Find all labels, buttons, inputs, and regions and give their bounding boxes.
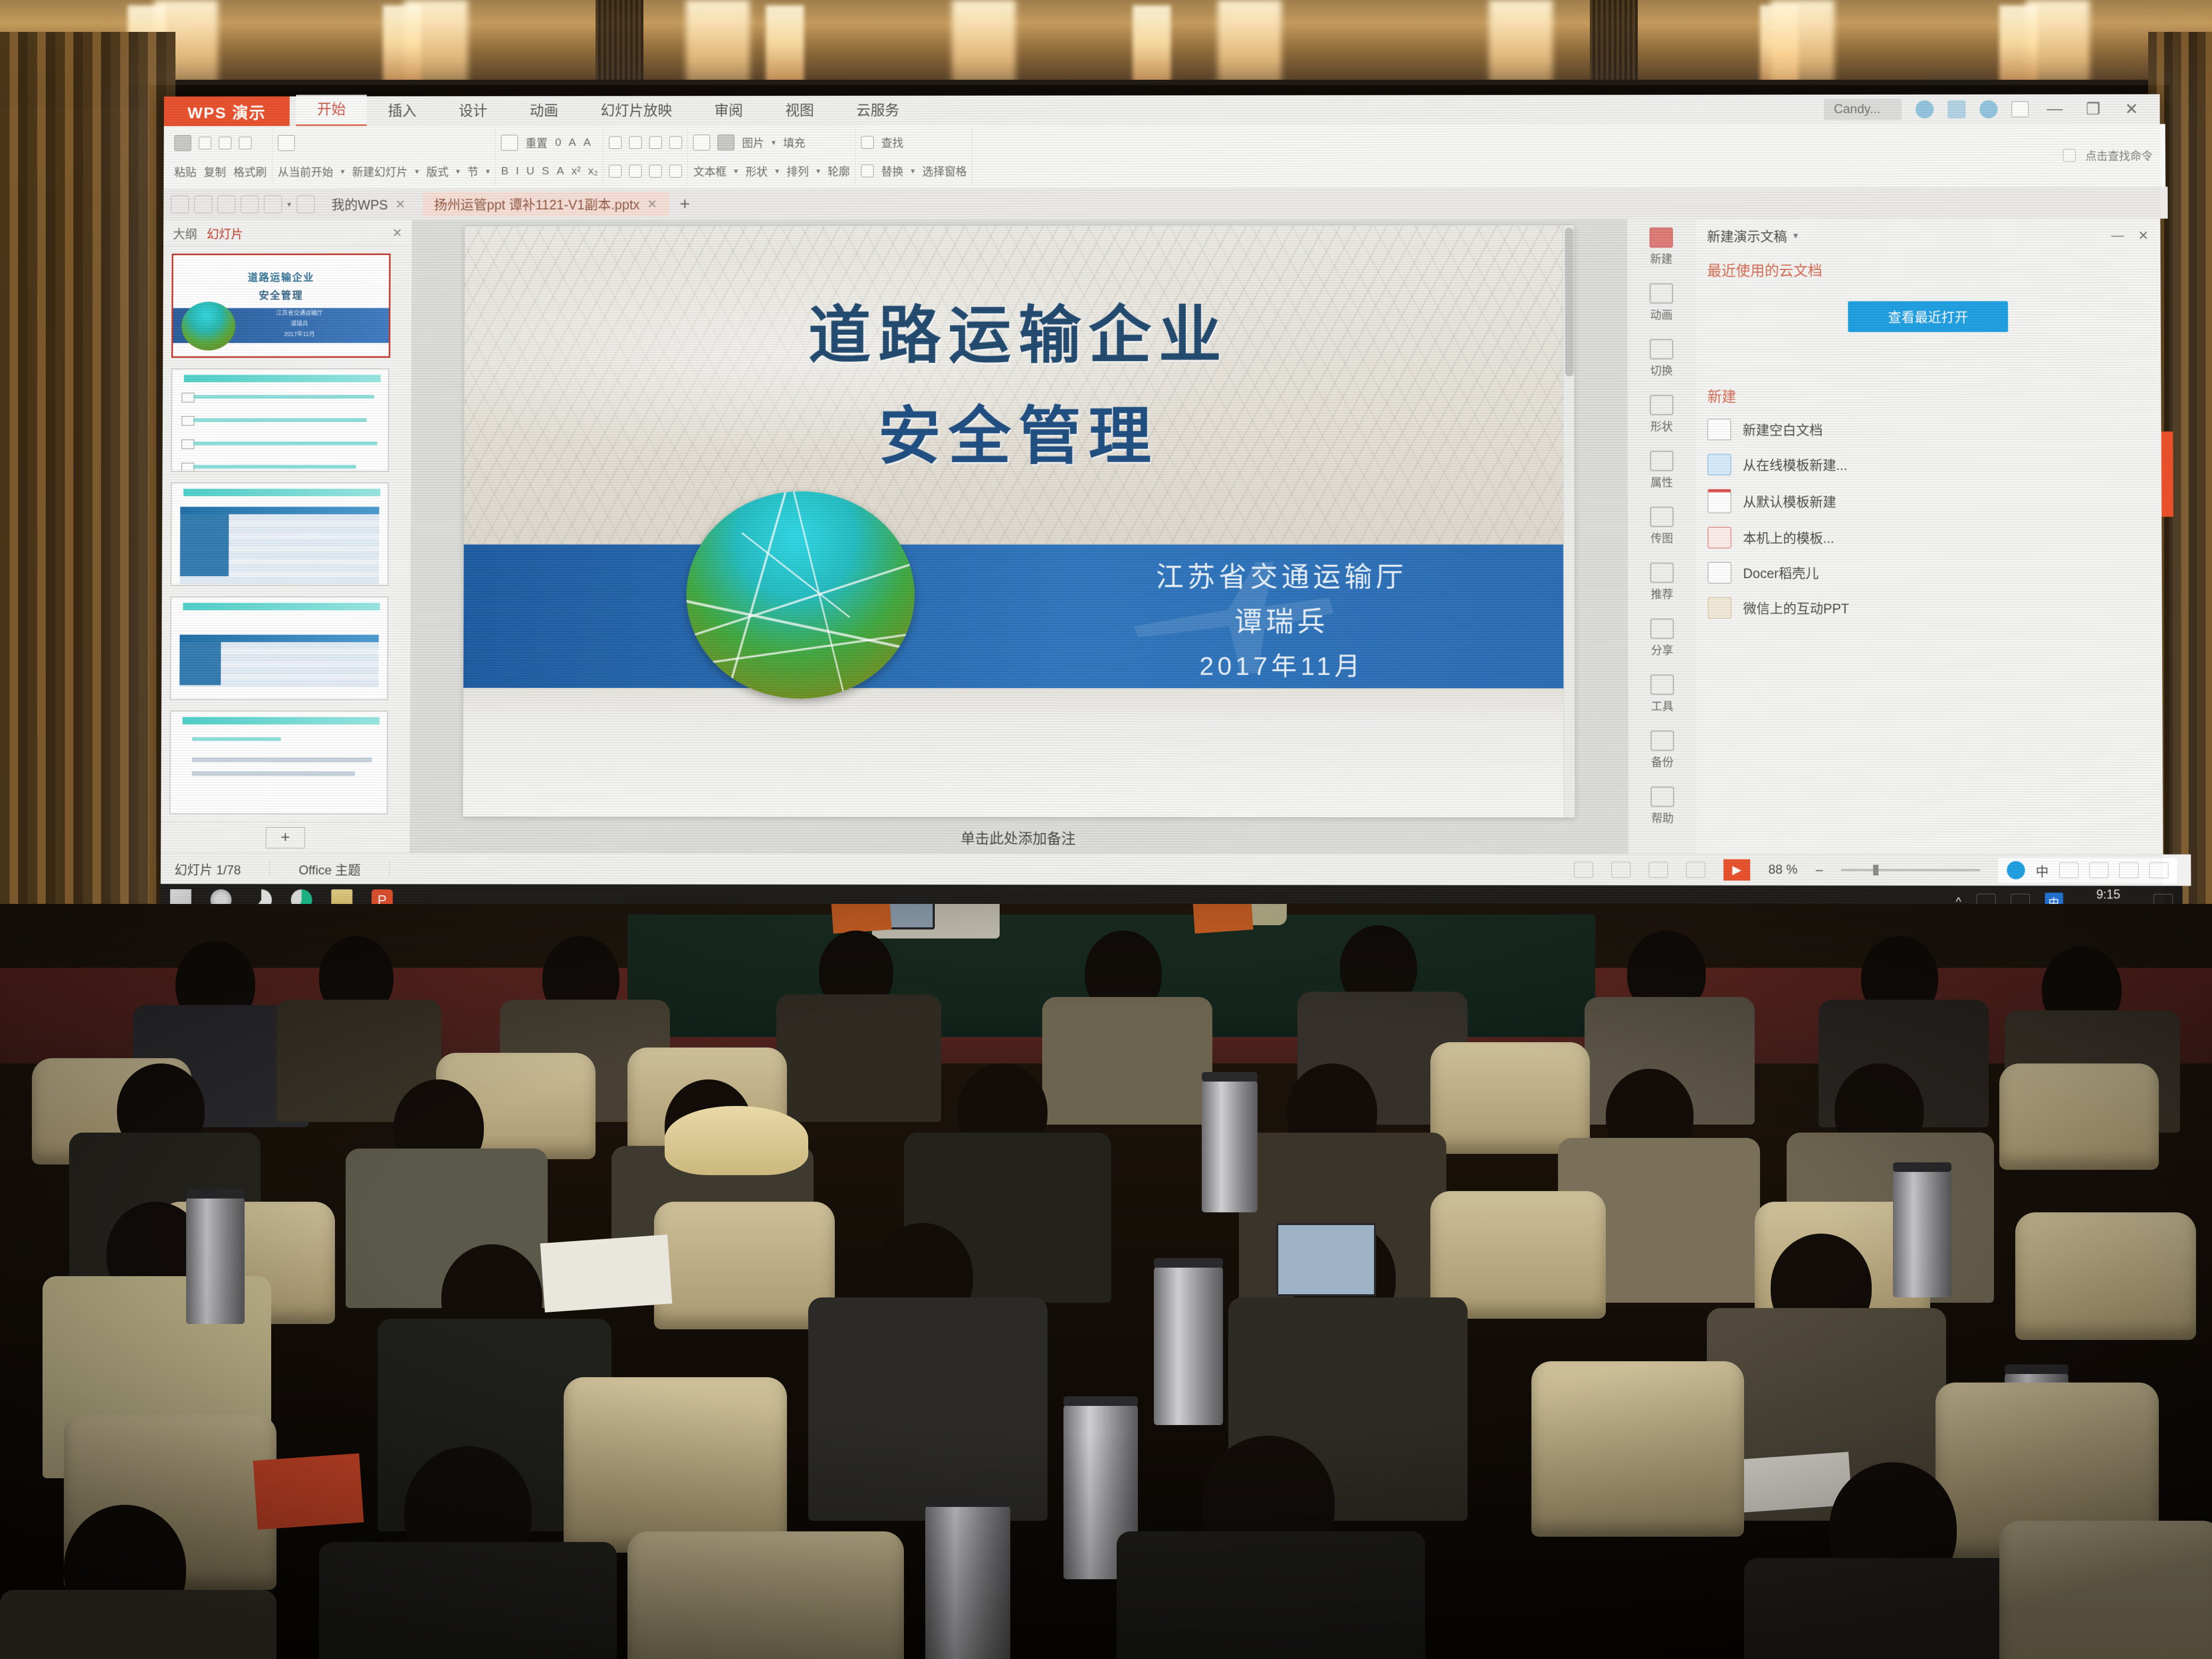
line-spacing-icon[interactable]	[669, 136, 682, 149]
account-name[interactable]: Candy...	[1824, 99, 1901, 120]
help-icon	[1650, 786, 1674, 807]
wps-logo: WPS 演示	[164, 96, 290, 126]
ribbon-tab-start[interactable]: 开始	[296, 95, 367, 126]
strikethrough-icon[interactable]: S	[542, 165, 549, 178]
workspace: 大纲 幻灯片 ✕ 道路运输企业 安全管理 江苏省交通运输厅 谭瑞兵 2017年1…	[161, 219, 2163, 855]
close-thumb-pane-icon[interactable]: ✕	[392, 225, 402, 240]
curtain-left	[0, 32, 175, 957]
ime-gear-icon[interactable]	[2149, 862, 2168, 878]
ribbon-toolbar[interactable]: 粘贴 复制 格式刷 从当前开始▾ 新建幻灯片▾ 版式▾ 节▾ 重置 0	[164, 124, 2166, 189]
rail-item-backup[interactable]: 备份	[1628, 731, 1697, 769]
start-from-current-button[interactable]: 从当前开始	[278, 164, 333, 180]
tab-slides[interactable]: 幻灯片	[207, 224, 244, 242]
ribbon-group-clipboard: 粘贴 复制 格式刷	[169, 128, 273, 187]
doc-tab-close-icon[interactable]: ✕	[647, 197, 657, 211]
textbox-button[interactable]: 文本框	[693, 163, 727, 179]
thumb1-subtitle: 安全管理	[173, 288, 389, 302]
current-slide-canvas[interactable]: 道路运输企业 安全管理 江苏省交通运输厅 谭瑞兵 2017年11月	[463, 225, 1575, 817]
fullscreen-icon[interactable]	[2012, 101, 2029, 117]
fill-button[interactable]: 填充	[783, 135, 806, 150]
start-slideshow-button[interactable]: ▶	[1723, 859, 1750, 881]
default-template-icon	[1707, 489, 1731, 513]
globe-icon[interactable]	[1915, 100, 1933, 119]
ribbon-group-paragraph	[604, 128, 688, 186]
new-doc-tab-button[interactable]: +	[674, 194, 690, 214]
upload-image-icon	[1650, 507, 1673, 527]
slide-title-line1: 道路运输企业	[464, 284, 1574, 375]
audience-paper	[540, 1235, 672, 1312]
thermos-flask	[1893, 1170, 1951, 1297]
reading-view-icon[interactable]	[1686, 862, 1705, 878]
interchange-globe-image	[686, 491, 915, 699]
rail-item-recommend[interactable]: 推荐	[1628, 563, 1696, 601]
slide-thumbnail-5[interactable]	[170, 710, 388, 814]
theme-name[interactable]: Office 主题	[299, 859, 361, 878]
grow-font-icon[interactable]: A	[568, 136, 576, 149]
new-slide-button[interactable]: 新建幻灯片	[352, 163, 408, 179]
new-doc-icon	[1649, 228, 1673, 248]
rail-item-upload-image[interactable]: 传图	[1628, 507, 1696, 546]
task-pane-minimize[interactable]: —	[2111, 228, 2124, 244]
thumb1-title: 道路运输企业	[173, 270, 389, 284]
ribbon-group-font: 重置 0 A A B I U S A x² x₂	[496, 128, 604, 186]
tab-outline[interactable]: 大纲	[173, 224, 197, 242]
ime-chinese-label[interactable]: 中	[2035, 861, 2048, 879]
window-title-bar: WPS 演示 开始 插入 设计 动画 幻灯片放映 审阅 视图 云服务 Candy…	[164, 94, 2160, 126]
slide-thumbnail-4[interactable]	[170, 597, 389, 700]
slide-editor[interactable]: 道路运输企业 安全管理 江苏省交通运输厅 谭瑞兵 2017年11月	[410, 219, 1628, 854]
picture-button[interactable]: 图片	[742, 135, 764, 150]
restore-button[interactable]: ❐	[2081, 100, 2105, 119]
backup-icon	[1650, 731, 1674, 751]
new-item-online-template[interactable]: 从在线模板新建...	[1707, 454, 2149, 475]
ribbon-tab-insert[interactable]: 插入	[367, 96, 438, 126]
text-color-icon[interactable]: A	[557, 165, 564, 178]
online-template-icon	[1707, 454, 1731, 475]
slide-org: 江苏省交通运输厅	[1079, 555, 1484, 600]
status-bar[interactable]: 幻灯片 1/78 Office 主题 ▶ 88 % – 中	[161, 852, 2191, 886]
task-pane-collapse-handle[interactable]	[2161, 432, 2174, 517]
ribbon-group-editing: 查找 替换▾ 选择窗格	[856, 128, 973, 186]
ribbon-tab-design[interactable]: 设计	[438, 96, 508, 126]
slide-author: 谭瑞兵	[1079, 600, 1484, 644]
ime-moon-icon[interactable]	[2059, 862, 2079, 878]
name-card-right	[1193, 904, 1253, 934]
animation-icon	[1649, 283, 1673, 304]
numbering-icon[interactable]	[629, 165, 642, 178]
indent-increase-icon[interactable]	[669, 165, 682, 178]
font-size-value[interactable]: 0	[555, 136, 562, 149]
scrollbar-thumb[interactable]	[1565, 228, 1574, 376]
slide-counter: 幻灯片 1/78	[174, 859, 241, 878]
transition-icon	[1650, 339, 1673, 359]
slide-sorter-icon[interactable]	[1649, 862, 1668, 878]
indent-decrease-icon[interactable]	[649, 165, 662, 178]
task-pane-close[interactable]: ✕	[2138, 228, 2149, 244]
name-card-left	[831, 904, 892, 934]
new-item-default-template[interactable]: 从默认模板新建	[1707, 489, 2150, 513]
wps-tab-icon	[296, 195, 314, 213]
rail-item-tools[interactable]: 工具	[1628, 675, 1697, 714]
align-center-icon[interactable]	[629, 136, 642, 149]
find-command-hint[interactable]: 点击查找命令	[2085, 147, 2153, 163]
slide-vertical-scrollbar[interactable]	[1563, 225, 1575, 817]
clock-time: 9:15	[2096, 887, 2120, 902]
slide-thumbnail-pane[interactable]: 大纲 幻灯片 ✕ 道路运输企业 安全管理 江苏省交通运输厅 谭瑞兵 2017年1…	[161, 220, 412, 853]
doc-tab-close-icon[interactable]: ✕	[395, 197, 405, 212]
zoom-out-button[interactable]: –	[1816, 862, 1823, 877]
audience-tablet	[1276, 1223, 1376, 1296]
outline-button[interactable]: 轮廓	[827, 163, 850, 179]
thumb1-globe-icon	[181, 301, 236, 350]
shape-fill-icon[interactable]	[718, 135, 735, 150]
normal-view-icon[interactable]	[1611, 862, 1630, 878]
slide-thumbnail-3[interactable]	[170, 482, 389, 586]
paste-icon[interactable]	[174, 135, 191, 151]
bullets-icon[interactable]	[609, 165, 622, 178]
slide-thumbnail-2[interactable]	[171, 368, 389, 472]
align-left-icon[interactable]	[609, 136, 622, 149]
bold-icon[interactable]: B	[501, 165, 508, 178]
share-icon	[1650, 618, 1674, 639]
blank-doc-icon	[1707, 419, 1731, 440]
section-button[interactable]: 节	[467, 163, 479, 179]
quick-access-caret-icon[interactable]: ▾	[287, 199, 291, 209]
new-item-blank-doc[interactable]: 新建空白文档	[1707, 419, 2149, 440]
rail-item-properties[interactable]: 属性	[1628, 451, 1696, 490]
projected-wps-window: WPS 演示 开始 插入 设计 动画 幻灯片放映 审阅 视图 云服务 Candy…	[161, 94, 2164, 918]
notes-placeholder[interactable]: 单击此处添加备注	[463, 821, 1575, 854]
paste-label[interactable]: 粘贴	[174, 164, 197, 180]
underline-icon[interactable]: U	[526, 165, 534, 178]
find-icon[interactable]	[861, 136, 874, 149]
thermos-flask	[1154, 1266, 1223, 1425]
new-item-wechat-ppt[interactable]: 微信上的互动PPT	[1708, 597, 2150, 618]
ribbon-tab-animation[interactable]: 动画	[508, 96, 579, 126]
select-pane-button[interactable]: 选择窗格	[922, 163, 967, 179]
task-pane-title: 新建演示文稿	[1707, 227, 1787, 246]
ribbon-group-drawing: 图片▾ 填充 文本框▾ 形状▾ 排列▾ 轮廓	[688, 128, 856, 186]
new-section-heading: 新建	[1707, 385, 2149, 406]
docer-icon	[1708, 562, 1731, 583]
screenshot-root: WPS 演示 开始 插入 设计 动画 幻灯片放映 审阅 视图 云服务 Candy…	[0, 0, 2212, 1659]
task-pane-body: 新建演示文稿 ▾ — ✕ 最近使用的云文档 查看最近打开 新建 新建空白文档	[1695, 219, 2163, 855]
shrink-font-icon[interactable]: A	[583, 136, 591, 149]
align-right-icon[interactable]	[649, 136, 662, 149]
ime-settings-icon[interactable]	[2089, 862, 2108, 878]
format-painter-label[interactable]: 格式刷	[233, 164, 267, 180]
thermos-flask	[1202, 1079, 1258, 1212]
audience-area	[0, 904, 2212, 1659]
red-name-card	[253, 1453, 364, 1530]
print-icon[interactable]	[194, 195, 212, 213]
document-tab-bar[interactable]: ▾ 我的WPS ✕ 扬州运管ppt 谭补1121-V1副本.pptx ✕ +	[163, 187, 2167, 220]
local-template-icon	[1708, 527, 1731, 548]
replace-icon[interactable]	[861, 165, 874, 178]
layout-button[interactable]: 版式	[426, 163, 449, 179]
ribbon-tab-view[interactable]: 视图	[764, 96, 835, 125]
superscript-icon[interactable]: x²	[572, 165, 581, 178]
ribbon-group-slides: 从当前开始▾ 新建幻灯片▾ 版式▾ 节▾	[272, 128, 496, 187]
italic-icon[interactable]: I	[516, 165, 519, 178]
close-button[interactable]: ✕	[2119, 100, 2144, 119]
input-method-circle-icon[interactable]	[2007, 861, 2025, 879]
view-recently-opened-button[interactable]: 查看最近打开	[1848, 301, 2008, 332]
slide-author-block: 江苏省交通运输厅 谭瑞兵 2017年11月	[1079, 555, 1484, 690]
shape-button[interactable]: 形状	[745, 163, 768, 179]
slide-thumbnail-1[interactable]: 道路运输企业 安全管理 江苏省交通运输厅 谭瑞兵 2017年11月	[171, 254, 390, 358]
shirt-icon[interactable]	[1948, 100, 1966, 119]
new-presentation-task-pane[interactable]: 新建 动画 切换 形状 属性 传图	[1627, 219, 2163, 855]
chevron-down-icon[interactable]: ▾	[1794, 231, 1798, 241]
add-slide-button[interactable]: +	[266, 827, 305, 848]
rail-item-new[interactable]: 新建	[1627, 228, 1695, 266]
slide-date: 2017年11月	[1079, 644, 1484, 689]
new-item-docer[interactable]: Docer稻壳儿	[1708, 562, 2150, 583]
rail-item-animation[interactable]: 动画	[1627, 283, 1695, 322]
copy-label[interactable]: 复制	[204, 164, 226, 180]
rail-item-share[interactable]: 分享	[1628, 618, 1697, 657]
rail-item-shape[interactable]: 形状	[1628, 395, 1696, 434]
find-button[interactable]: 查找	[881, 135, 903, 150]
save-icon[interactable]	[171, 195, 189, 213]
ribbon-tab-cloud[interactable]: 云服务	[835, 96, 921, 125]
shape-icon	[1650, 395, 1673, 415]
replace-button[interactable]: 替换	[881, 163, 903, 179]
properties-icon	[1650, 451, 1673, 471]
minimize-button[interactable]: —	[2042, 100, 2067, 118]
thermos-flask	[186, 1196, 245, 1324]
reset-icon[interactable]	[501, 135, 518, 150]
ime-toolbox-icon[interactable]	[2119, 862, 2138, 878]
cut-icon[interactable]	[199, 137, 212, 149]
tools-icon	[1650, 675, 1674, 695]
doc-tab-active-pptx[interactable]: 扬州运管ppt 谭补1121-V1副本.pptx ✕	[422, 192, 669, 216]
thermos-flask	[925, 1505, 1010, 1659]
copy-icon[interactable]	[219, 137, 231, 149]
ribbon-tab-slideshow[interactable]: 幻灯片放映	[580, 96, 693, 125]
zoom-slider[interactable]	[1841, 869, 1980, 871]
recent-cloud-docs-heading: 最近使用的云文档	[1707, 259, 2149, 280]
arrange-button[interactable]: 排列	[786, 163, 809, 179]
wechat-ppt-icon	[1708, 597, 1731, 618]
format-painter-icon[interactable]	[239, 137, 252, 149]
ime-tray[interactable]: 中	[1998, 858, 2177, 883]
zoom-level: 88 %	[1769, 862, 1798, 877]
recommend-icon	[1650, 563, 1673, 583]
new-item-local-template[interactable]: 本机上的模板...	[1708, 527, 2150, 548]
rail-item-help[interactable]: 帮助	[1628, 786, 1697, 825]
reset-label[interactable]: 重置	[525, 135, 548, 150]
start-show-icon[interactable]	[278, 135, 295, 151]
slide-title-line2: 安全管理	[464, 385, 1574, 476]
rail-item-transition[interactable]: 切换	[1627, 339, 1695, 378]
task-pane-rail[interactable]: 新建 动画 切换 形状 属性 传图	[1627, 219, 1697, 854]
search-icon[interactable]	[2063, 149, 2076, 162]
ribbon-tab-strip[interactable]: 开始 插入 设计 动画 幻灯片放映 审阅 视图 云服务	[290, 96, 920, 126]
new-document-options[interactable]: 新建空白文档 从在线模板新建... 从默认模板新建 本机上的模板...	[1707, 419, 2150, 619]
help-circle-icon[interactable]	[1980, 100, 1998, 119]
ribbon-tab-review[interactable]: 审阅	[693, 96, 765, 125]
print-preview-icon[interactable]	[217, 195, 236, 213]
spellcheck-icon[interactable]	[1574, 862, 1593, 878]
beige-cap	[665, 1106, 808, 1175]
subscript-icon[interactable]: x₂	[588, 165, 598, 178]
doc-tab-my-wps[interactable]: 我的WPS ✕	[320, 192, 417, 216]
undo-icon[interactable]	[241, 195, 259, 213]
redo-icon[interactable]	[264, 195, 282, 213]
textbox-icon[interactable]	[693, 135, 710, 150]
